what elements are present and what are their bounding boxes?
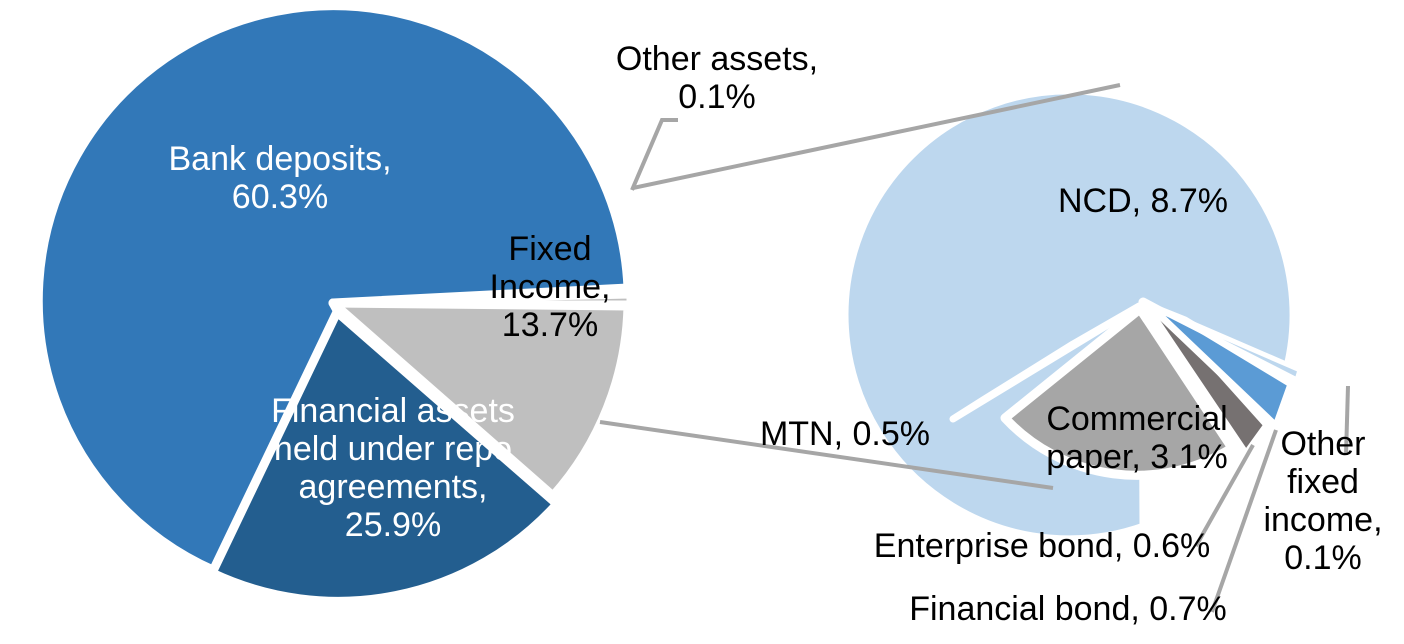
label-ncd: NCD, 8.7% bbox=[1013, 182, 1273, 220]
label-other-assets: Other assets, 0.1% bbox=[592, 40, 842, 116]
label-enterprise-bond: Enterprise bond, 0.6% bbox=[862, 527, 1222, 565]
label-mtn: MTN, 0.5% bbox=[745, 415, 945, 453]
label-other-fixed-income: Other fixed income, 0.1% bbox=[1253, 425, 1393, 577]
label-fixed-income: Fixed Income, 13.7% bbox=[455, 230, 645, 344]
label-commercial-paper: Commercial paper, 3.1% bbox=[1012, 400, 1262, 476]
label-bank-deposits: Bank deposits, 60.3% bbox=[120, 140, 440, 216]
label-financial-bond: Financial bond, 0.7% bbox=[888, 590, 1248, 628]
chart-canvas: Bank deposits, 60.3% Fixed Income, 13.7%… bbox=[0, 0, 1404, 644]
label-repo-agreements: Financial assets held under repo agreeme… bbox=[243, 392, 543, 544]
